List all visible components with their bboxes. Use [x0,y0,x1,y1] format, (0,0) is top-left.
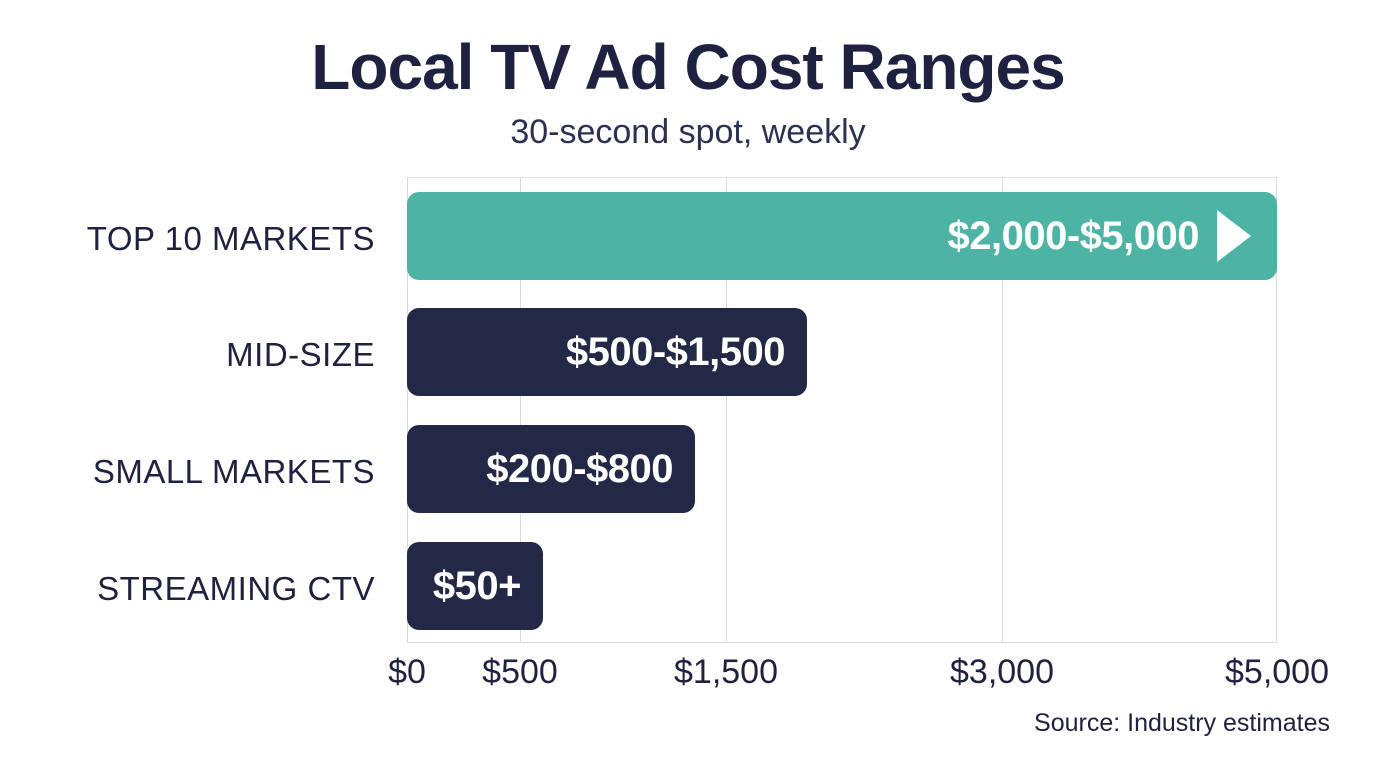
x-tick-label-5000: $5,000 [1225,652,1329,693]
bar-value-streaming-ctv: $50+ [433,566,543,606]
category-label-mid-size: MID-SIZE [226,338,375,371]
bar-streaming-ctv[interactable]: $50+ [407,542,543,630]
chart-title: Local TV Ad Cost Ranges [0,34,1376,101]
bar-small-markets[interactable]: $200-$800 [407,425,695,513]
x-tick-label-3000: $3,000 [950,652,1054,693]
category-label-top-10-markets: TOP 10 MARKETS [87,222,375,255]
play-arrow-icon [1213,208,1253,264]
bar-mid-size[interactable]: $500-$1,500 [407,308,807,396]
bar-value-small-markets: $200-$800 [486,449,695,489]
bar-top-10-markets[interactable]: $2,000-$5,000 [407,192,1277,280]
x-tick-label-500: $500 [482,652,558,693]
source-note: Source: Industry estimates [1034,709,1330,738]
bar-value-top-10-markets: $2,000-$5,000 [947,216,1213,256]
x-tick-label-0: $0 [388,652,426,693]
chart-container: Local TV Ad Cost Ranges 30-second spot, … [0,0,1376,768]
chart-subtitle: 30-second spot, weekly [0,112,1376,153]
bar-value-mid-size: $500-$1,500 [566,332,807,372]
category-label-streaming-ctv: STREAMING CTV [97,572,375,605]
category-label-small-markets: SMALL MARKETS [93,455,375,488]
x-tick-label-1500: $1,500 [674,652,778,693]
